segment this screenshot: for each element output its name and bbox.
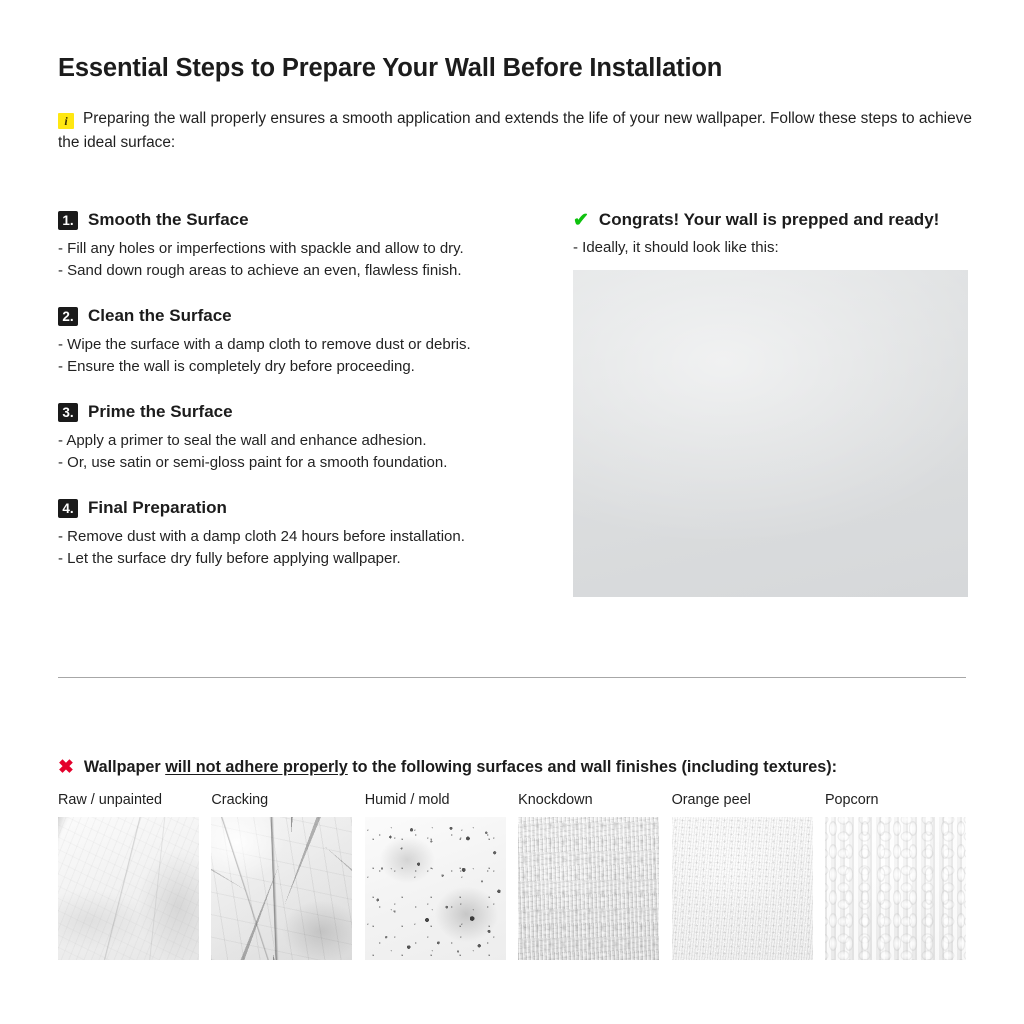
- step-header: 3. Prime the Surface: [58, 402, 548, 422]
- step-item-4: 4. Final Preparation - Remove dust with …: [58, 498, 548, 569]
- steps-list: 1. Smooth the Surface - Fill any holes o…: [58, 210, 548, 569]
- texture-label: Raw / unpainted: [58, 792, 199, 808]
- step-title: Prime the Surface: [88, 402, 233, 422]
- texture-cell-raw-unpainted: Raw / unpainted: [58, 792, 199, 960]
- texture-cell-knockdown: Knockdown: [518, 792, 659, 960]
- step-line: - Let the surface dry fully before apply…: [58, 548, 548, 570]
- step-number-badge: 4.: [58, 499, 78, 518]
- step-header: 2. Clean the Surface: [58, 306, 548, 326]
- popcorn-texture: [825, 817, 966, 960]
- step-line: - Apply a primer to seal the wall and en…: [58, 430, 548, 452]
- step-header: 1. Smooth the Surface: [58, 210, 548, 230]
- step-line: - Wipe the surface with a damp cloth to …: [58, 334, 548, 356]
- orange-peel-texture: [672, 817, 813, 960]
- step-item-1: 1. Smooth the Surface - Fill any holes o…: [58, 210, 548, 281]
- cracking-texture: [211, 817, 352, 960]
- humid-mold-texture: [365, 817, 506, 960]
- texture-label: Orange peel: [672, 792, 813, 808]
- congrats-subtitle: - Ideally, it should look like this:: [573, 237, 968, 258]
- warning-prefix: Wallpaper: [84, 758, 165, 776]
- step-line: - Remove dust with a damp cloth 24 hours…: [58, 526, 548, 548]
- intro-paragraph: iPreparing the wall properly ensures a s…: [58, 107, 973, 154]
- step-number-badge: 2.: [58, 307, 78, 326]
- step-title: Smooth the Surface: [88, 210, 249, 230]
- step-number-badge: 1.: [58, 211, 78, 230]
- page-title: Essential Steps to Prepare Your Wall Bef…: [58, 54, 722, 83]
- step-item-3: 3. Prime the Surface - Apply a primer to…: [58, 402, 548, 473]
- texture-label: Humid / mold: [365, 792, 506, 808]
- texture-label: Popcorn: [825, 792, 966, 808]
- step-header: 4. Final Preparation: [58, 498, 548, 518]
- wallpaper-prep-guide-page: Essential Steps to Prepare Your Wall Bef…: [0, 0, 1024, 1024]
- step-title: Final Preparation: [88, 498, 227, 518]
- red-x-icon: ✖: [58, 758, 74, 777]
- green-check-icon: ✔: [573, 211, 589, 230]
- texture-cell-humid-mold: Humid / mold: [365, 792, 506, 960]
- congrats-header: ✔ Congrats! Your wall is prepped and rea…: [573, 210, 968, 230]
- step-number-badge: 3.: [58, 403, 78, 422]
- texture-label: Cracking: [211, 792, 352, 808]
- texture-cell-cracking: Cracking: [211, 792, 352, 960]
- knockdown-texture: [518, 817, 659, 960]
- step-line: - Fill any holes or imperfections with s…: [58, 238, 548, 260]
- raw-unpainted-texture: [58, 817, 199, 960]
- step-line: - Sand down rough areas to achieve an ev…: [58, 260, 548, 282]
- smooth-wall-preview: [573, 270, 968, 597]
- info-icon: i: [58, 113, 74, 129]
- texture-cell-popcorn: Popcorn: [825, 792, 966, 960]
- warning-text: Wallpaper will not adhere properly to th…: [84, 758, 837, 777]
- step-item-2: 2. Clean the Surface - Wipe the surface …: [58, 306, 548, 377]
- texture-label: Knockdown: [518, 792, 659, 808]
- warning-header: ✖ Wallpaper will not adhere properly to …: [58, 758, 837, 777]
- step-line: - Ensure the wall is completely dry befo…: [58, 356, 548, 378]
- congrats-title: Congrats! Your wall is prepped and ready…: [599, 210, 939, 230]
- step-title: Clean the Surface: [88, 306, 232, 326]
- section-divider: [58, 677, 966, 678]
- warning-emphasis: will not adhere properly: [165, 758, 348, 776]
- texture-cell-orange-peel: Orange peel: [672, 792, 813, 960]
- ideal-wall-section: ✔ Congrats! Your wall is prepped and rea…: [573, 210, 968, 597]
- step-line: - Or, use satin or semi-gloss paint for …: [58, 452, 548, 474]
- bad-surfaces-grid: Raw / unpainted Cracking Humid / mold Kn…: [58, 792, 966, 960]
- warning-suffix: to the following surfaces and wall finis…: [348, 758, 837, 776]
- intro-text: Preparing the wall properly ensures a sm…: [58, 110, 972, 151]
